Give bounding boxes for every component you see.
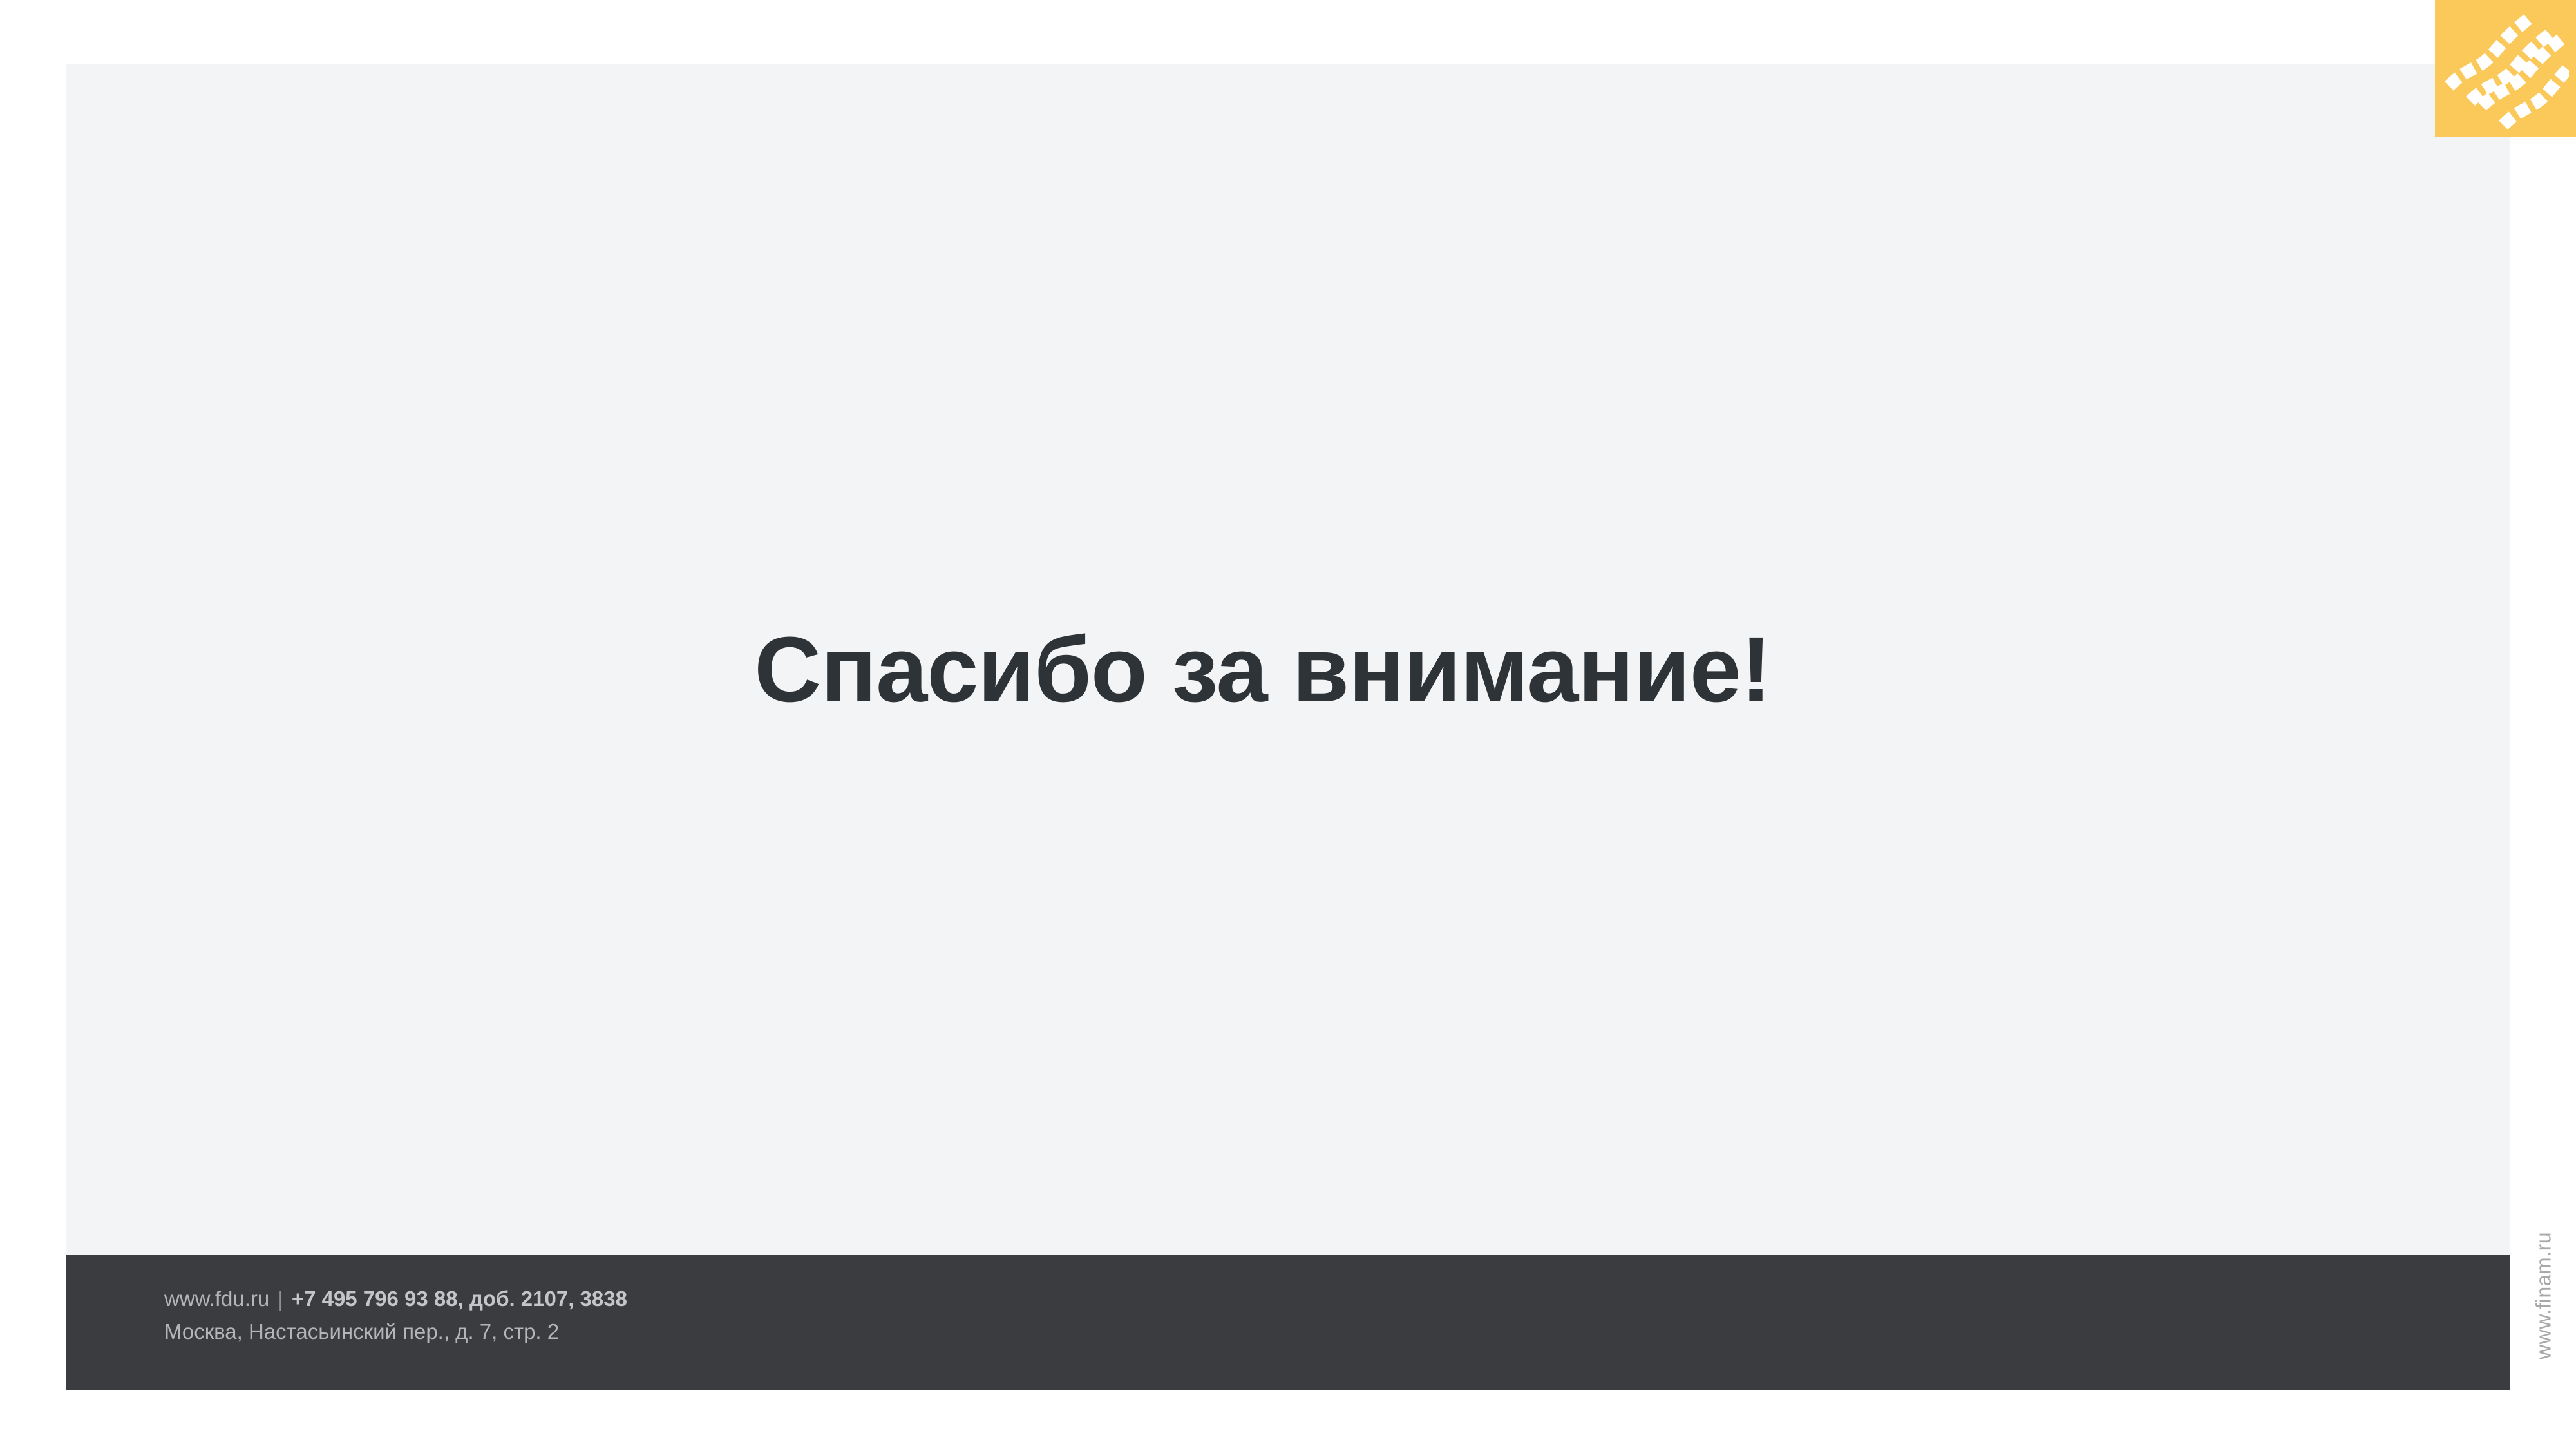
brand-logo-tile[interactable] [2435, 0, 2576, 137]
slide: Спасибо за внимание! www.fdu.ru | +7 495… [0, 0, 2576, 1449]
footer-band: www.fdu.ru | +7 495 796 93 88, доб. 2107… [66, 1255, 2510, 1390]
footer-contact-block: www.fdu.ru | +7 495 796 93 88, доб. 2107… [164, 1285, 627, 1345]
footer-address-text: Москва, Настасьинский пер., д. 7, стр. 2 [164, 1318, 559, 1345]
vertical-site-watermark: www.finam.ru [2532, 1232, 2556, 1359]
finam-ribbon-icon [2443, 5, 2569, 131]
content-panel [66, 64, 2510, 1390]
footer-phone-number[interactable]: +7 495 796 93 88, доб. 2107, 3838 [292, 1285, 627, 1312]
footer-line-address: Москва, Настасьинский пер., д. 7, стр. 2 [164, 1318, 627, 1345]
footer-website-link[interactable]: www.fdu.ru [164, 1285, 269, 1312]
footer-line-contact: www.fdu.ru | +7 495 796 93 88, доб. 2107… [164, 1285, 627, 1312]
footer-separator: | [278, 1285, 283, 1312]
